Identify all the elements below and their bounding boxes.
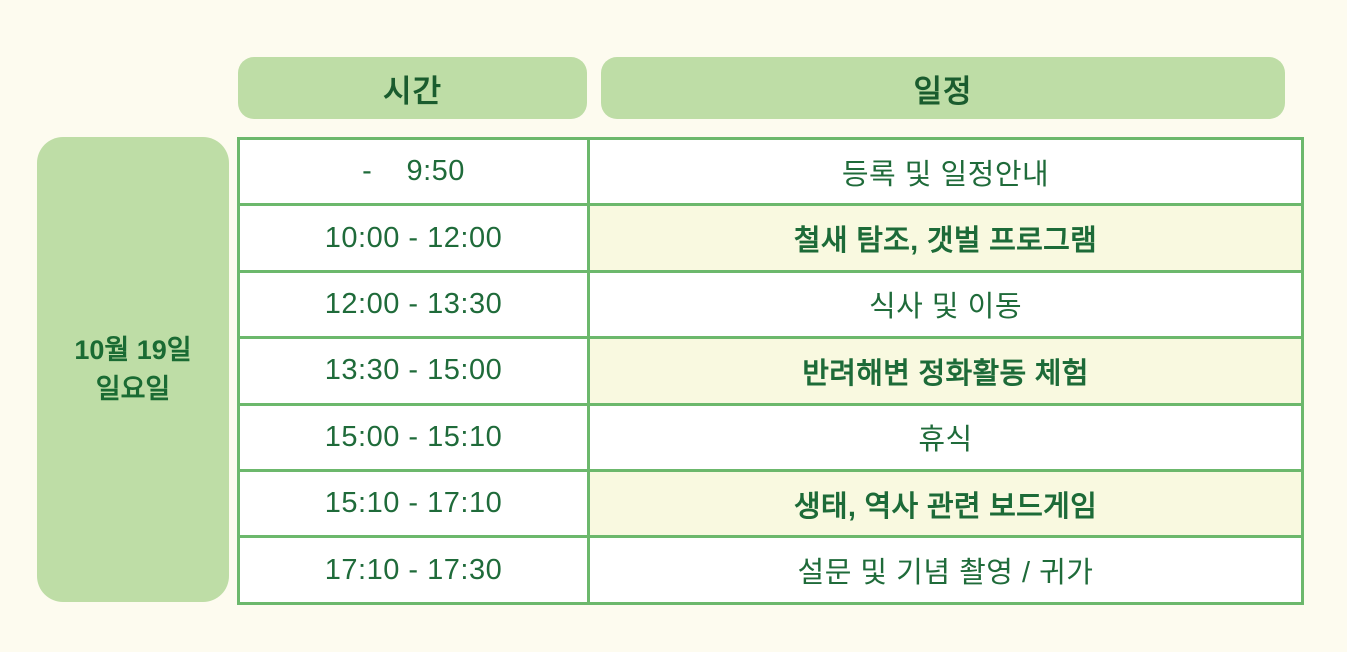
cell-time: 17:10 - 17:30 (239, 537, 589, 603)
cell-time: 10:00 - 12:00 (239, 205, 589, 271)
date-label-line-2: 일요일 (96, 370, 171, 408)
cell-agenda: 식사 및 이동 (589, 271, 1303, 337)
cell-agenda: 생태, 역사 관련 보드게임 (589, 470, 1303, 536)
cell-time: 13:30 - 15:00 (239, 338, 589, 404)
column-header-time: 시간 (238, 57, 587, 119)
table-row: - 9:50등록 및 일정안내 (239, 139, 1303, 205)
cell-time: 15:00 - 15:10 (239, 404, 589, 470)
cell-time: - 9:50 (239, 139, 589, 205)
cell-agenda: 철새 탐조, 갯벌 프로그램 (589, 205, 1303, 271)
table-row: 15:00 - 15:10휴식 (239, 404, 1303, 470)
table-row: 13:30 - 15:00반려해변 정화활동 체험 (239, 338, 1303, 404)
cell-time: 12:00 - 13:30 (239, 271, 589, 337)
cell-agenda: 반려해변 정화활동 체험 (589, 338, 1303, 404)
schedule-table-body: - 9:50등록 및 일정안내10:00 - 12:00철새 탐조, 갯벌 프로… (239, 139, 1303, 604)
table-header-row: 시간 일정 (238, 57, 1285, 119)
table-row: 12:00 - 13:30식사 및 이동 (239, 271, 1303, 337)
table-row: 17:10 - 17:30설문 및 기념 촬영 / 귀가 (239, 537, 1303, 603)
table-row: 15:10 - 17:10생태, 역사 관련 보드게임 (239, 470, 1303, 536)
cell-time: 15:10 - 17:10 (239, 470, 589, 536)
cell-agenda: 등록 및 일정안내 (589, 139, 1303, 205)
cell-agenda: 휴식 (589, 404, 1303, 470)
schedule-table: - 9:50등록 및 일정안내10:00 - 12:00철새 탐조, 갯벌 프로… (237, 137, 1304, 605)
schedule-page: 시간 일정 10월 19일 일요일 - 9:50등록 및 일정안내10:00 -… (0, 0, 1347, 652)
table-row: 10:00 - 12:00철새 탐조, 갯벌 프로그램 (239, 205, 1303, 271)
cell-agenda: 설문 및 기념 촬영 / 귀가 (589, 537, 1303, 603)
date-label: 10월 19일 일요일 (37, 137, 229, 602)
date-label-line-1: 10월 19일 (74, 331, 191, 369)
column-header-agenda: 일정 (601, 57, 1285, 119)
